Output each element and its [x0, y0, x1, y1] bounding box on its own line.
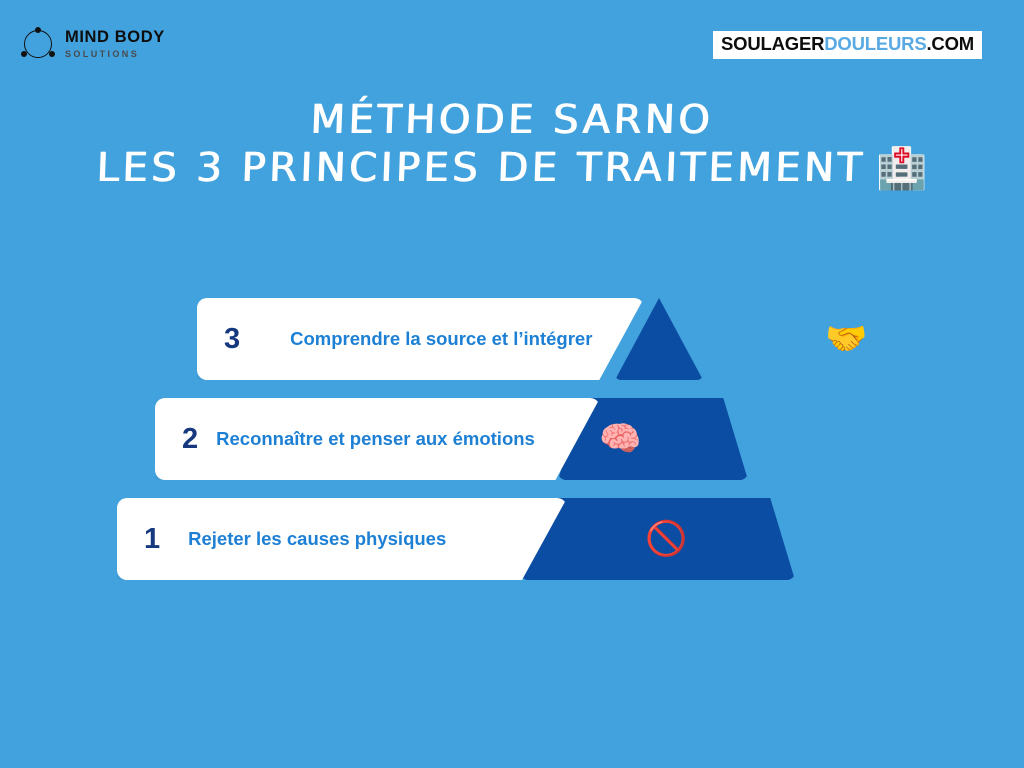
- prohibited-emoji: 🚫: [645, 522, 687, 556]
- brand-name: MIND BODY: [65, 29, 165, 46]
- infographic-canvas: { "page": { "background_color": "#42a2de…: [0, 0, 1024, 768]
- tier-2-number: 2: [182, 425, 198, 454]
- logo-ring: [24, 30, 52, 58]
- pyramid-diagram: 🤝 3 Comprendre la source et l’intégrer 🧠…: [0, 298, 1024, 588]
- tier-3-label: Comprendre la source et l’intégrer: [290, 328, 592, 349]
- brand-text: MIND BODY SOLUTIONS: [65, 29, 165, 59]
- tier-2-label: Reconnaître et penser aux émotions: [216, 428, 535, 449]
- site-badge-part-1: SOULAGER: [721, 33, 824, 54]
- site-badge: SOULAGERDOULEURS.COM: [713, 31, 982, 59]
- logo-dot-right: [49, 51, 55, 57]
- tier-1-label: Rejeter les causes physiques: [188, 528, 446, 549]
- tier-3-card: 3 Comprendre la source et l’intégrer: [197, 298, 644, 380]
- tier-3-number: 3: [224, 325, 240, 354]
- title-line-1: MÉTHODE SARNO: [0, 98, 1024, 143]
- brain-emoji: 🧠: [599, 422, 641, 456]
- title-line-2-row: LES 3 PRINCIPES DE TRAITEMENT 🏥: [0, 143, 1024, 194]
- title-line-2: LES 3 PRINCIPES DE TRAITEMENT: [96, 143, 866, 194]
- brand-logo: MIND BODY SOLUTIONS: [20, 26, 165, 62]
- pyramid-tier-3: 🤝 3 Comprendre la source et l’intégrer: [197, 298, 703, 380]
- pyramid-tier-2: 🧠 2 Reconnaître et penser aux émotions: [155, 398, 748, 480]
- logo-dot-top: [35, 27, 41, 33]
- page-title: MÉTHODE SARNO LES 3 PRINCIPES DE TRAITEM…: [0, 98, 1024, 194]
- hospital-emoji: 🏥: [877, 148, 927, 188]
- site-badge-part-2: DOULEURS: [824, 33, 926, 54]
- logo-dot-left: [21, 51, 27, 57]
- circle-three-dots-icon: [20, 26, 56, 62]
- tier-2-card: 2 Reconnaître et penser aux émotions: [155, 398, 600, 480]
- pyramid-tier-1: 🚫 1 Rejeter les causes physiques: [117, 498, 795, 580]
- tier-1-card: 1 Rejeter les causes physiques: [117, 498, 567, 580]
- site-badge-part-3: .COM: [926, 33, 974, 54]
- tier-1-number: 1: [144, 525, 160, 554]
- brand-subtitle: SOLUTIONS: [65, 50, 165, 59]
- handshake-emoji: 🤝: [825, 322, 867, 356]
